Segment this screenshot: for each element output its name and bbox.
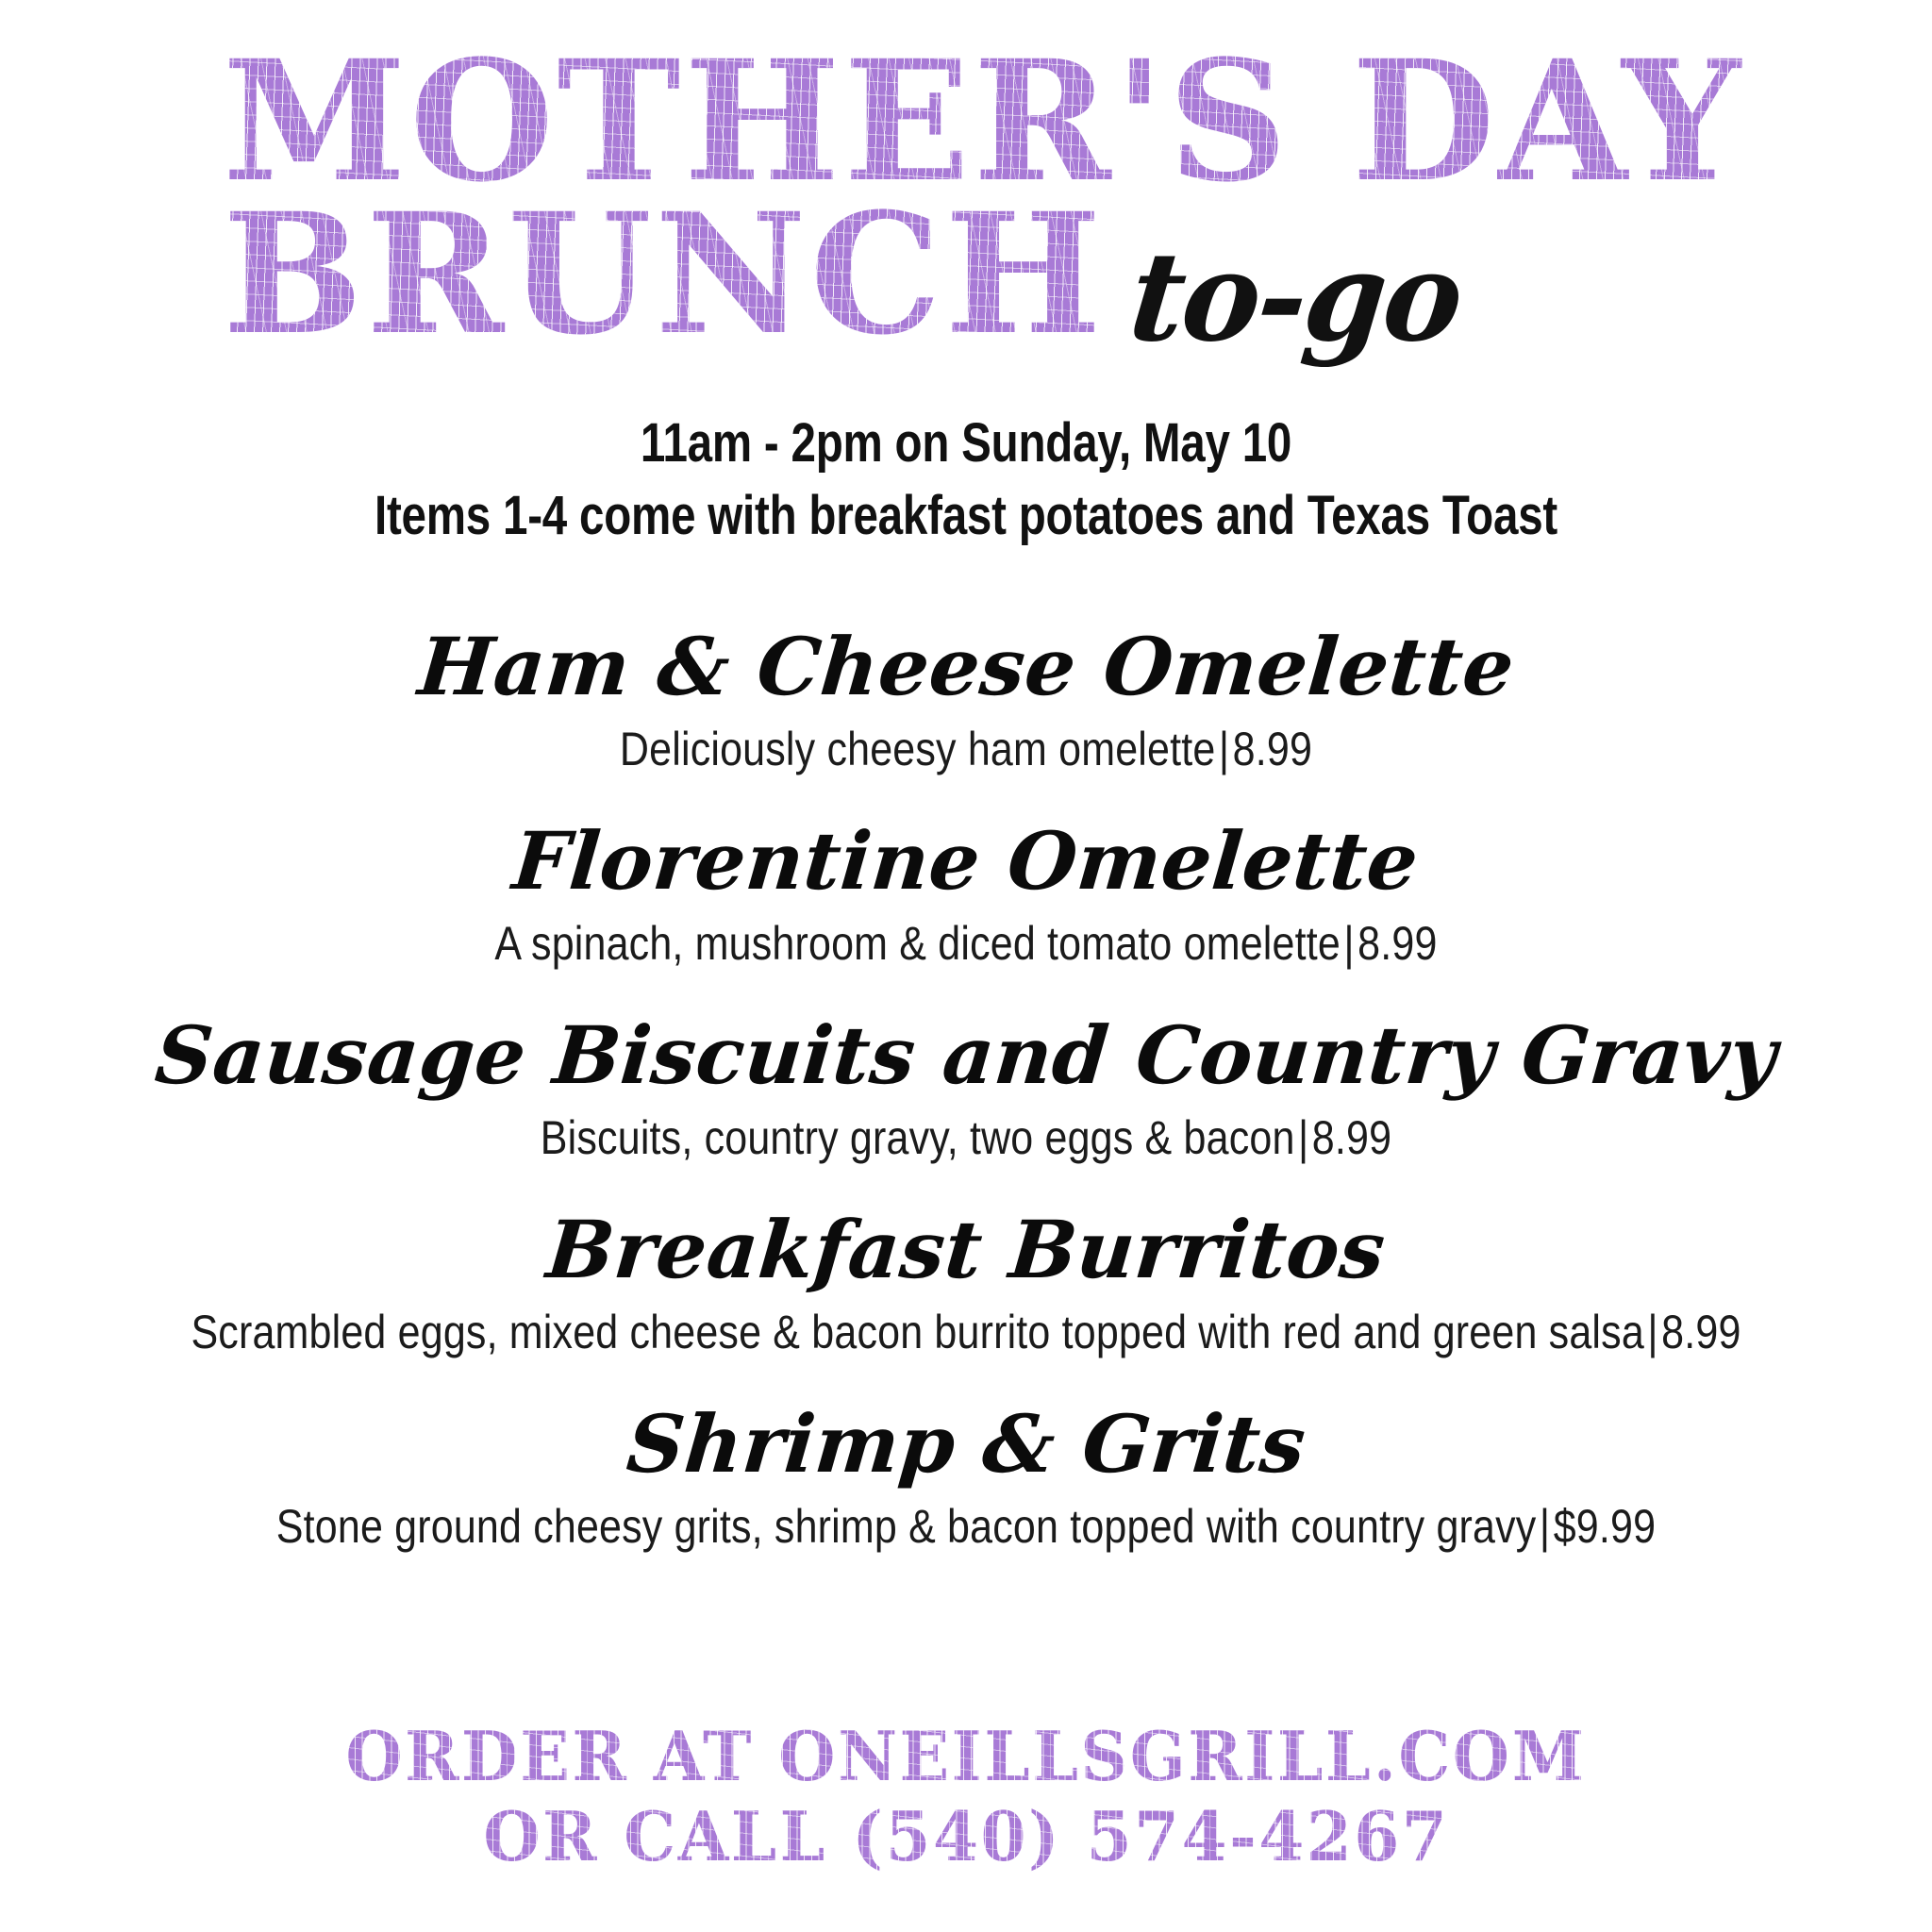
subtitle-block: 11am - 2pm on Sunday, May 10 Items 1-4 c…: [0, 408, 1932, 552]
dish-description-row: Scrambled eggs, mixed cheese & bacon bur…: [135, 1304, 1796, 1360]
dish-description: Scrambled eggs, mixed cheese & bacon bur…: [191, 1306, 1643, 1358]
price-separator: |: [1215, 723, 1232, 775]
price-separator: |: [1341, 917, 1357, 970]
dish-description: Deliciously cheesy ham omelette: [620, 723, 1216, 775]
menu-item: Breakfast Burritos Scrambled eggs, mixed…: [0, 1206, 1932, 1360]
page-title-line-1: MOTHER'S DAY: [223, 45, 1743, 198]
dish-description: Biscuits, country gravy, two eggs & baco…: [541, 1111, 1295, 1164]
order-phone-line[interactable]: OR CALL (540) 574-4267: [483, 1797, 1449, 1877]
menu-flyer: MOTHER'S DAY BRUNCHto-go 11am - 2pm on S…: [0, 0, 1932, 1932]
includes-line: Items 1-4 come with breakfast potatoes a…: [174, 480, 1757, 553]
flyer-header: MOTHER'S DAY BRUNCHto-go: [0, 45, 1932, 351]
dish-price: 8.99: [1357, 917, 1437, 970]
dish-name: Florentine Omelette: [509, 817, 1422, 906]
dish-price: 8.99: [1661, 1306, 1740, 1358]
order-website-line[interactable]: ORDER AT ONEILLSGRILL.COM: [346, 1717, 1587, 1797]
dish-description-row: Deliciously cheesy ham omelette|8.99: [135, 721, 1796, 777]
title-script-togo: to-go: [1124, 241, 1465, 355]
menu-list: Ham & Cheese Omelette Deliciously cheesy…: [0, 623, 1932, 1594]
dish-price: 8.99: [1312, 1111, 1391, 1164]
menu-item: Florentine Omelette A spinach, mushroom …: [0, 817, 1932, 972]
title-line-2-row: BRUNCHto-go: [0, 198, 1932, 351]
title-line-1-row: MOTHER'S DAY: [0, 45, 1932, 198]
footer-block: ORDER AT ONEILLSGRILL.COM OR CALL (540) …: [0, 1717, 1932, 1877]
menu-item: Ham & Cheese Omelette Deliciously cheesy…: [0, 623, 1932, 777]
dish-description-row: A spinach, mushroom & diced tomato omele…: [135, 915, 1796, 972]
dish-name: Ham & Cheese Omelette: [415, 623, 1518, 711]
dish-name: Breakfast Burritos: [543, 1206, 1389, 1294]
menu-item: Sausage Biscuits and Country Gravy Biscu…: [0, 1011, 1932, 1166]
dish-price: 8.99: [1233, 723, 1312, 775]
dish-description-row: Stone ground cheesy grits, shrimp & baco…: [135, 1498, 1796, 1555]
hours-line: 11am - 2pm on Sunday, May 10: [174, 408, 1757, 480]
dish-price: $9.99: [1554, 1500, 1656, 1553]
price-separator: |: [1644, 1306, 1661, 1358]
menu-item: Shrimp & Grits Stone ground cheesy grits…: [0, 1400, 1932, 1555]
price-separator: |: [1295, 1111, 1312, 1164]
dish-name: Shrimp & Grits: [624, 1400, 1309, 1489]
dish-name: Sausage Biscuits and Country Gravy: [152, 1011, 1780, 1100]
page-title-line-2: BRUNCH: [223, 198, 1105, 351]
dish-description: Stone ground cheesy grits, shrimp & baco…: [276, 1500, 1537, 1553]
price-separator: |: [1536, 1500, 1553, 1553]
dish-description-row: Biscuits, country gravy, two eggs & baco…: [135, 1109, 1796, 1166]
dish-description: A spinach, mushroom & diced tomato omele…: [494, 917, 1341, 970]
